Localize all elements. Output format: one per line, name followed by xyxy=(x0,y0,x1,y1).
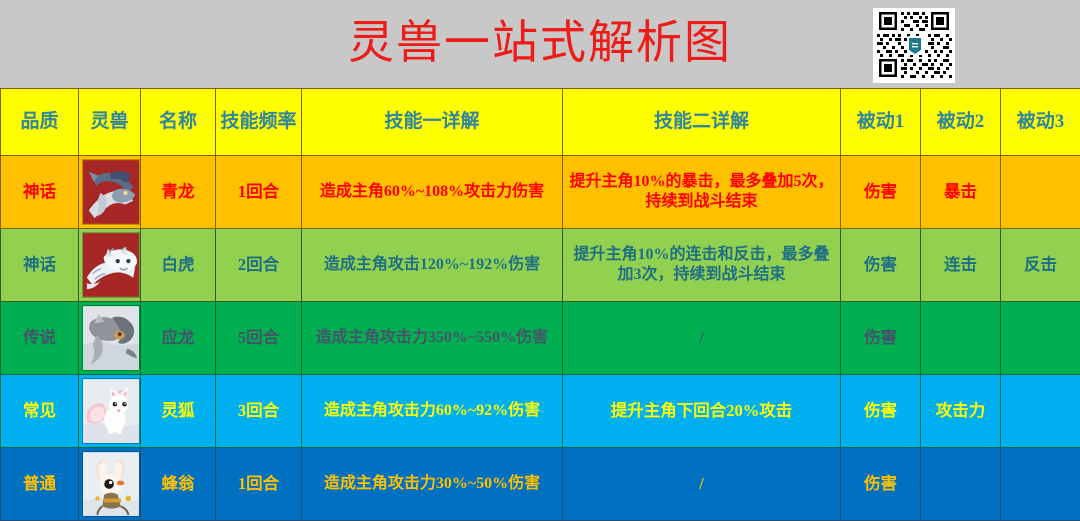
cell-skill1: 造成主角攻击力350%~550%伤害 xyxy=(302,302,563,375)
col-header-passive1: 被动1 xyxy=(841,89,921,156)
cell-passive2 xyxy=(921,302,1001,375)
cell-passive1: 伤害 xyxy=(841,375,921,448)
table-row: 神话 青龙 xyxy=(1,156,1080,229)
cell-frequency: 2回合 xyxy=(216,229,302,302)
cell-passive3 xyxy=(1001,375,1080,448)
cell-skill2: / xyxy=(563,302,841,375)
cell-skill2: 提升主角下回合20%攻击 xyxy=(563,375,841,448)
bee-elder-icon xyxy=(82,451,140,517)
cell-skill2: 提升主角10%的暴击，最多叠加5次，持续到战斗结束 xyxy=(563,156,841,229)
cell-passive2 xyxy=(921,448,1001,521)
cell-skill2: 提升主角10%的连击和反击，最多叠加3次，持续到战斗结束 xyxy=(563,229,841,302)
page-root: 灵兽一站式解析图 xyxy=(0,0,1080,478)
cell-skill1: 造成主角攻击120%~192%伤害 xyxy=(302,229,563,302)
cell-beast-thumbnail[interactable] xyxy=(79,302,141,375)
cell-frequency: 3回合 xyxy=(216,375,302,448)
cell-quality: 神话 xyxy=(1,229,79,302)
cell-frequency: 5回合 xyxy=(216,302,302,375)
cell-passive3: 反击 xyxy=(1001,229,1080,302)
cell-quality: 常见 xyxy=(1,375,79,448)
cell-name: 蜂翁 xyxy=(141,448,216,521)
ying-dragon-icon xyxy=(82,305,140,371)
cell-passive2: 暴击 xyxy=(921,156,1001,229)
cell-passive3 xyxy=(1001,448,1080,521)
cell-passive3 xyxy=(1001,302,1080,375)
table-header-row: 品质 灵兽 名称 技能频率 技能一详解 技能二详解 被动1 被动2 被动3 xyxy=(1,89,1080,156)
table-row: 普通 xyxy=(1,448,1080,521)
blue-dragon-icon xyxy=(82,159,140,225)
beast-table: 品质 灵兽 名称 技能频率 技能一详解 技能二详解 被动1 被动2 被动3 神话 xyxy=(0,88,1080,521)
cell-quality: 神话 xyxy=(1,156,79,229)
col-header-beast: 灵兽 xyxy=(79,89,141,156)
table-row: 神话 xyxy=(1,229,1080,302)
cell-frequency: 1回合 xyxy=(216,156,302,229)
cell-skill1: 造成主角攻击力30%~50%伤害 xyxy=(302,448,563,521)
cell-passive2: 攻击力 xyxy=(921,375,1001,448)
qr-code-icon[interactable] xyxy=(873,8,955,83)
col-header-name: 名称 xyxy=(141,89,216,156)
cell-passive1: 伤害 xyxy=(841,302,921,375)
spirit-fox-icon xyxy=(82,378,140,444)
col-header-passive2: 被动2 xyxy=(921,89,1001,156)
cell-name: 灵狐 xyxy=(141,375,216,448)
white-tiger-icon xyxy=(82,232,140,298)
cell-beast-thumbnail[interactable] xyxy=(79,156,141,229)
col-header-quality: 品质 xyxy=(1,89,79,156)
col-header-skill1: 技能一详解 xyxy=(302,89,563,156)
cell-passive1: 伤害 xyxy=(841,156,921,229)
col-header-frequency: 技能频率 xyxy=(216,89,302,156)
table-row: 传说 xyxy=(1,302,1080,375)
cell-passive2: 连击 xyxy=(921,229,1001,302)
col-header-passive3: 被动3 xyxy=(1001,89,1080,156)
cell-skill1: 造成主角60%~108%攻击力伤害 xyxy=(302,156,563,229)
cell-beast-thumbnail[interactable] xyxy=(79,448,141,521)
cell-frequency: 1回合 xyxy=(216,448,302,521)
cell-passive1: 伤害 xyxy=(841,229,921,302)
cell-name: 应龙 xyxy=(141,302,216,375)
cell-name: 青龙 xyxy=(141,156,216,229)
cell-skill1: 造成主角攻击力60%~92%伤害 xyxy=(302,375,563,448)
cell-beast-thumbnail[interactable] xyxy=(79,375,141,448)
title-banner: 灵兽一站式解析图 xyxy=(0,0,1080,88)
cell-passive3 xyxy=(1001,156,1080,229)
col-header-skill2: 技能二详解 xyxy=(563,89,841,156)
table-row: 常见 xyxy=(1,375,1080,448)
cell-skill2: / xyxy=(563,448,841,521)
cell-name: 白虎 xyxy=(141,229,216,302)
cell-quality: 普通 xyxy=(1,448,79,521)
cell-beast-thumbnail[interactable] xyxy=(79,229,141,302)
cell-quality: 传说 xyxy=(1,302,79,375)
cell-passive1: 伤害 xyxy=(841,448,921,521)
